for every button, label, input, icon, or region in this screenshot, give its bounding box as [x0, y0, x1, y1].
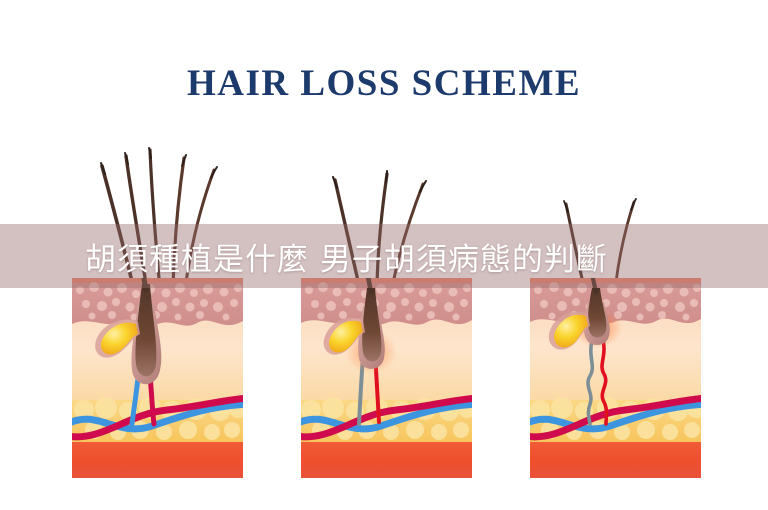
thinning-follicle-panel: [301, 278, 472, 478]
caption-text: 胡須種植是什麼 男子胡須病態的判斷: [0, 224, 768, 288]
muscle-layer: [301, 442, 472, 478]
muscle-layer: [530, 442, 701, 478]
skin-cross-section-diagram-1: [72, 108, 243, 478]
hair-tip-group: [333, 171, 426, 192]
skin-cross-section-diagram-3: [530, 108, 701, 478]
skin-cross-section-diagram-2: [301, 108, 472, 478]
hair-tip-group: [564, 199, 636, 212]
miniaturized-follicle-panel: [530, 278, 701, 478]
page-title: HAIR LOSS SCHEME: [0, 62, 768, 105]
hair-tip-group: [101, 148, 217, 178]
healthy-follicle-panel: [72, 278, 243, 478]
muscle-layer: [72, 442, 243, 478]
infographic-canvas: HAIR LOSS SCHEME: [0, 0, 768, 510]
